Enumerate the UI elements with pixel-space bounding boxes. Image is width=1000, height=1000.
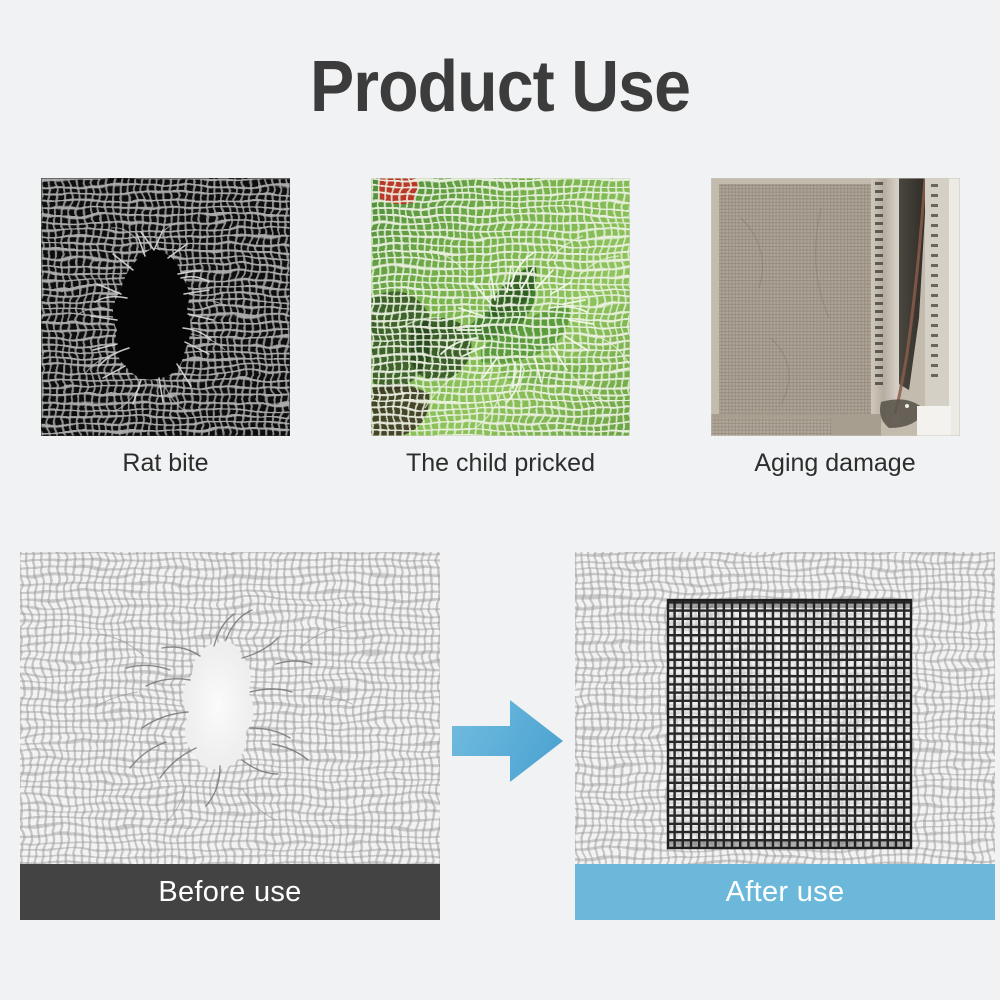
caption-aging-damage: Aging damage	[705, 448, 965, 479]
damage-examples-row	[0, 178, 1000, 438]
transition-arrow	[450, 693, 565, 789]
rat-bite-mesh-photo	[41, 178, 290, 436]
before-torn-screen-photo	[20, 552, 440, 864]
after-use-banner: After use	[575, 864, 995, 920]
page-title: Product Use	[40, 44, 960, 130]
after-use-label: After use	[726, 876, 845, 909]
caption-child-pricked: The child pricked	[371, 448, 630, 479]
after-patched-screen-photo	[575, 552, 995, 864]
child-pricked-mesh-photo	[371, 178, 630, 436]
before-use-label: Before use	[158, 876, 301, 909]
before-panel: Before use	[20, 552, 440, 920]
right-arrow-icon	[450, 693, 565, 789]
after-panel: After use	[575, 552, 995, 920]
before-use-banner: Before use	[20, 864, 440, 920]
caption-rat-bite: Rat bite	[41, 448, 290, 479]
after-photo-frame	[575, 552, 995, 864]
aging-damage-mesh-photo	[711, 178, 960, 436]
damage-photo-rat-bite	[41, 178, 290, 436]
before-photo-frame	[20, 552, 440, 864]
damage-photo-child-pricked	[371, 178, 630, 436]
damage-photo-aging	[711, 178, 960, 436]
